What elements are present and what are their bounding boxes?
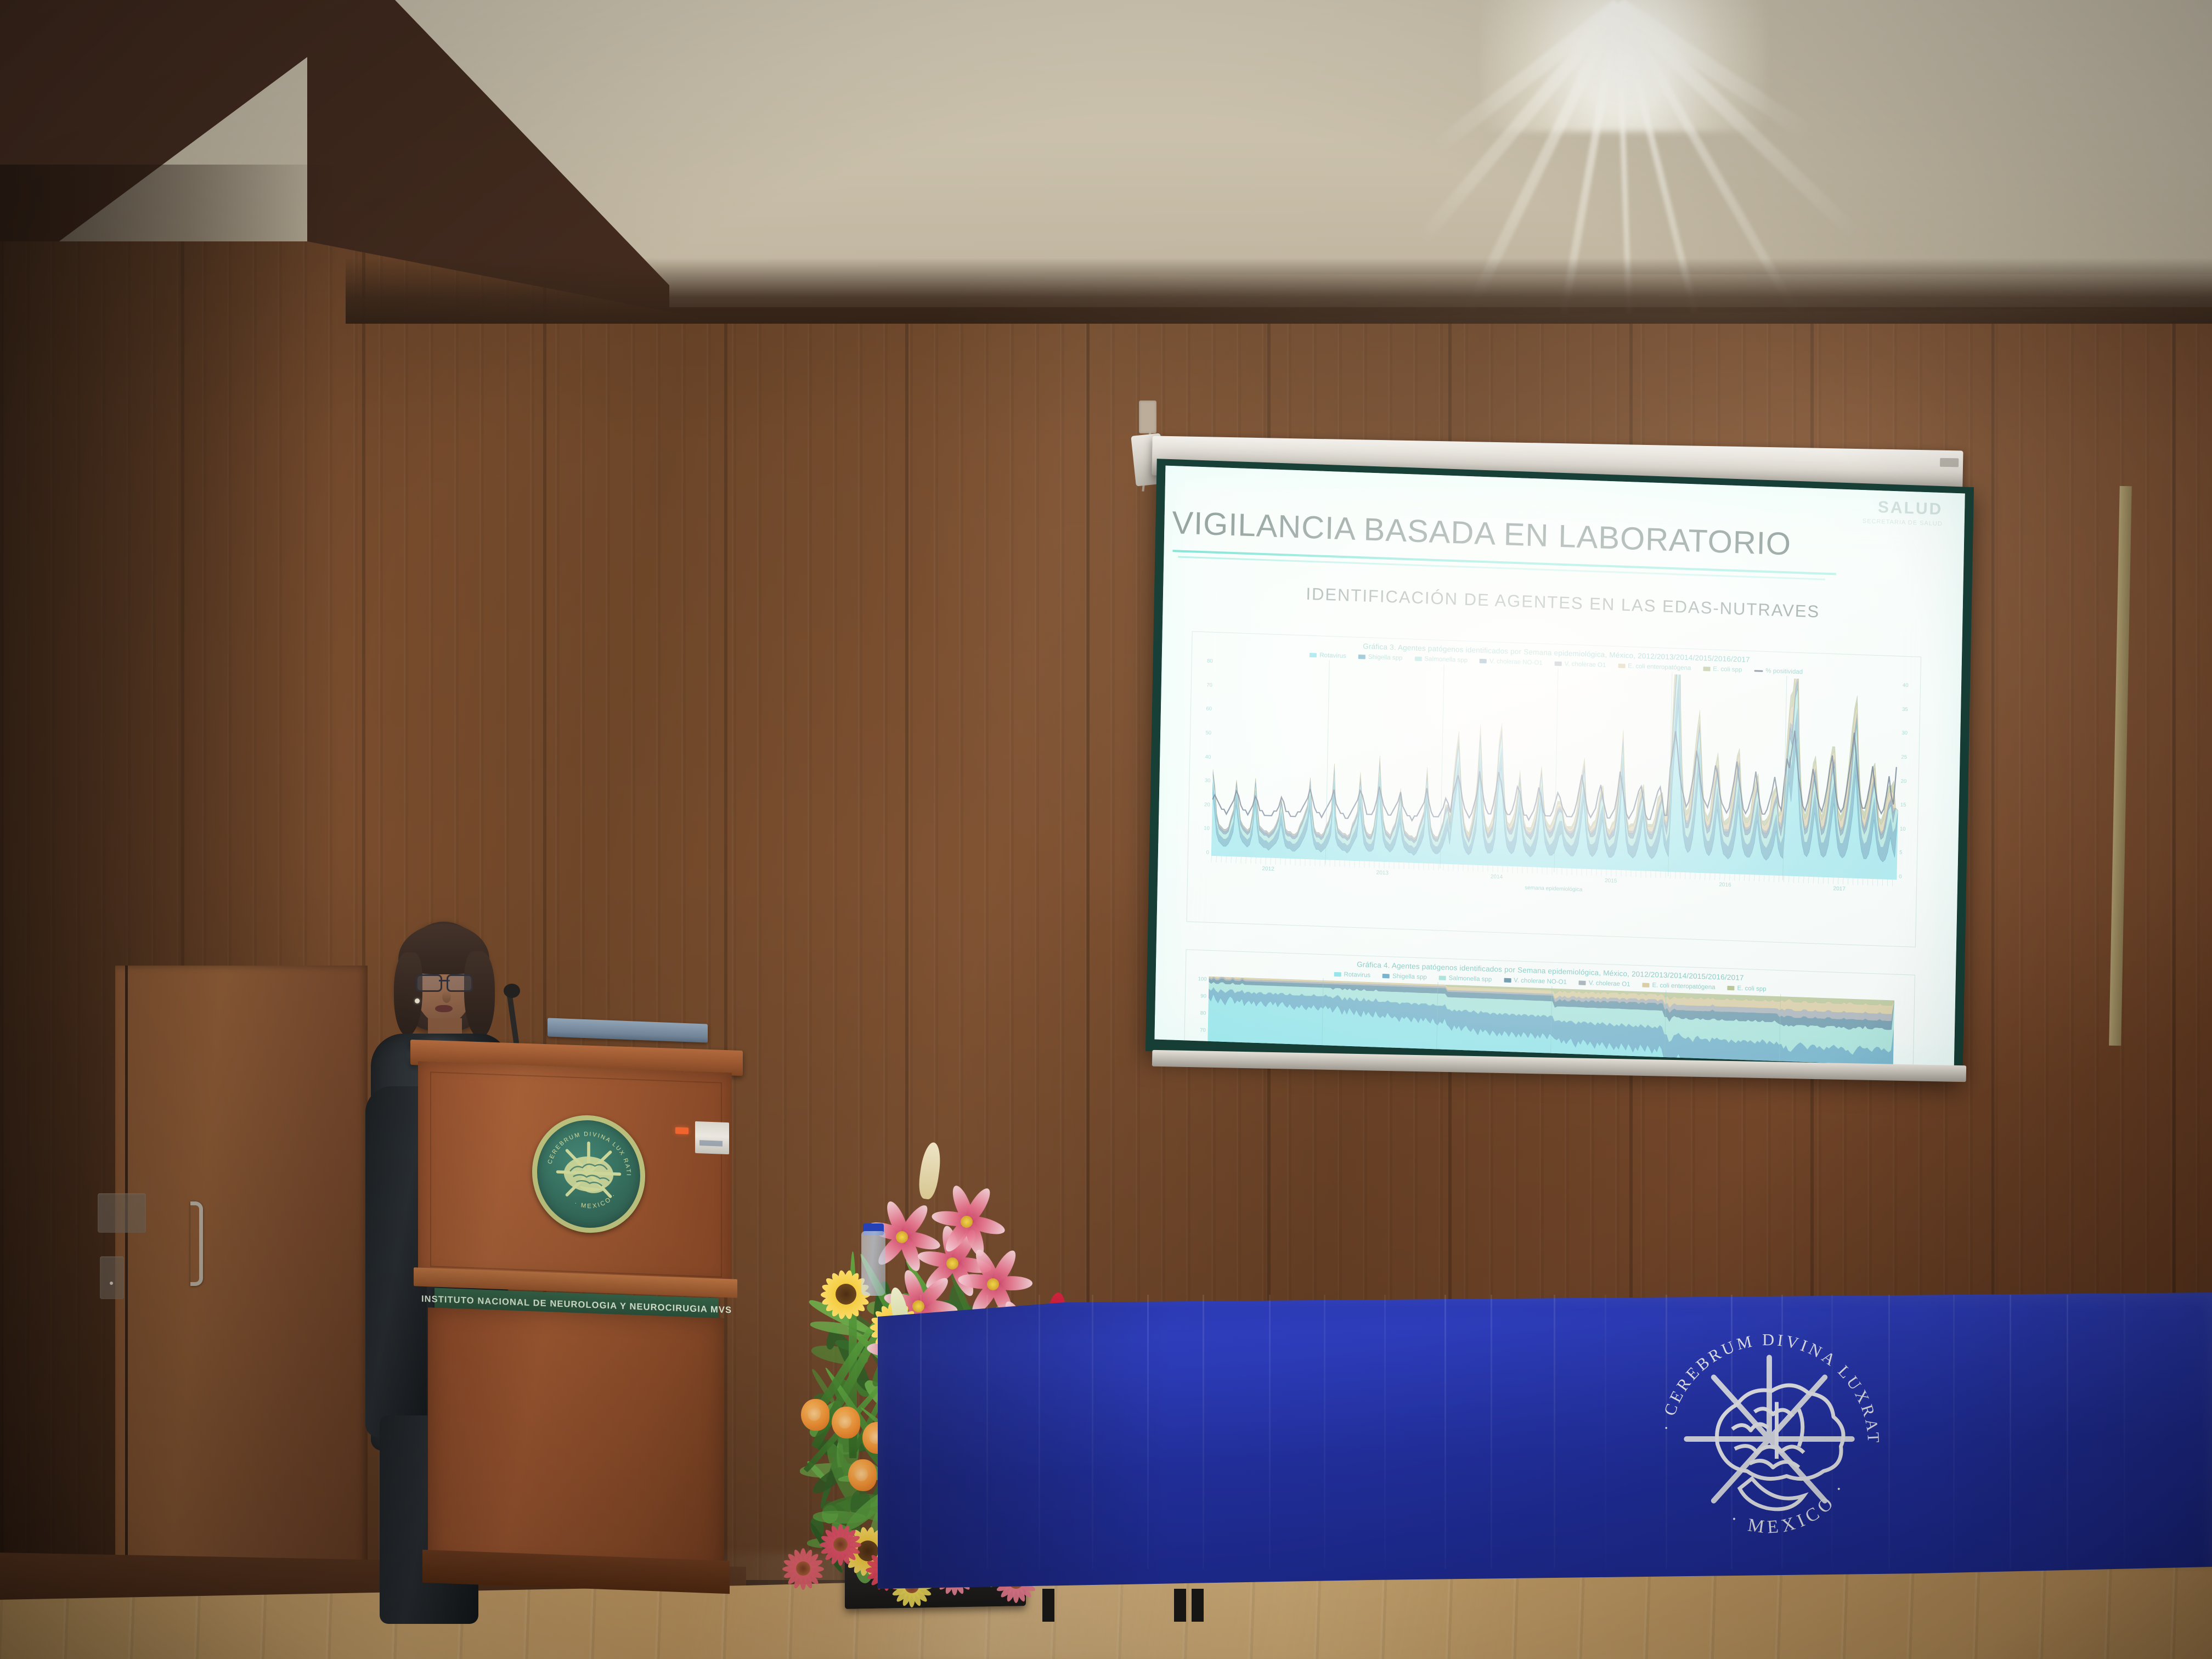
speaker-earring [415, 998, 420, 1003]
legend-swatch [1480, 659, 1487, 663]
year-label: 2017 [1833, 886, 1846, 893]
chart-lower: Gráfica 4. Agentes patógenos identificad… [1181, 949, 1915, 1067]
lily-center [946, 1257, 958, 1269]
legend-swatch [1555, 662, 1562, 666]
water-bottle[interactable] [861, 1231, 885, 1296]
tablecloth-fold [1269, 1295, 1271, 1569]
tablecloth-fold [1831, 1295, 1833, 1569]
lily-center [896, 1231, 908, 1243]
legend-swatch [1579, 980, 1586, 985]
legend-item: Shigella spp [1383, 973, 1427, 981]
speaker-hair-right [464, 951, 495, 1038]
podium-control-label[interactable] [695, 1121, 729, 1154]
chart-upper-y-axis-left: 80706050403020100 [1190, 658, 1213, 856]
tablecloth-fold [1324, 1295, 1325, 1569]
year-label: 2013 [1376, 870, 1389, 876]
tablecloth-fold [986, 1295, 988, 1569]
podium-power-indicator [675, 1127, 689, 1135]
salud-logo-text: SALUD [1863, 498, 1943, 519]
glasses-lens-left [416, 974, 442, 992]
tablecloth-fold [1203, 1295, 1204, 1569]
axis-tick-label: 20 [1901, 778, 1907, 784]
table-leg [1192, 1589, 1204, 1622]
axis-tick-label: 70 [1206, 682, 1212, 688]
sunflower-center [836, 1284, 856, 1305]
legend-item: V. cholerae NO-O1 [1480, 658, 1543, 667]
legend-label: V. cholerae O1 [1565, 661, 1606, 669]
legend-label: Salmonella spp [1424, 656, 1468, 664]
legend-item: % positividad [1754, 667, 1803, 675]
legend-label: Rotavirus [1319, 652, 1346, 660]
axis-tick-label: 40 [1903, 682, 1909, 689]
legend-item: E. coli spp [1703, 665, 1742, 673]
legend-item: Rotavirus [1334, 971, 1370, 979]
auditorium-photo: SALUD SECRETARIA DE SALUD VIGILANCIA BAS… [0, 0, 2212, 1659]
glasses-lens-right [447, 974, 473, 992]
tablecloth-fold [1953, 1295, 1955, 1569]
legend-label: % positividad [1765, 668, 1803, 675]
auditorium-door[interactable] [115, 966, 368, 1613]
legend-label: E. coli enteropatógena [1628, 663, 1691, 672]
axis-tick-label: 60 [1199, 1044, 1205, 1050]
chart-upper-plot: 80706050403020100 4035302520151050 seman… [1211, 658, 1900, 880]
axis-tick-label: 15 [1900, 802, 1906, 808]
head-table: · CEREBRUM DIVINA LUXRATIO SALUS SCIENTI… [878, 1278, 2212, 1618]
year-label: 2012 [1262, 866, 1274, 872]
lectern-podium: CEREBRUM DIVINA LUX RATIO SALUS · MEXICO… [406, 1045, 757, 1627]
axis-tick-label: 80 [1207, 658, 1213, 664]
tablecloth-fold [1147, 1295, 1149, 1569]
blue-tablecloth [878, 1293, 2212, 1589]
tablecloth-fold [1605, 1295, 1606, 1569]
legend-label: V. cholerae O1 [1589, 980, 1630, 988]
tablecloth-fold [1039, 1295, 1040, 1569]
slide-title: VIGILANCIA BASADA EN LABORATORIO [1172, 504, 1945, 568]
axis-tick-label: 70 [1200, 1027, 1206, 1033]
tablecloth-fold [1384, 1295, 1386, 1569]
axis-tick-label: 25 [1901, 754, 1907, 760]
axis-tick-label: 30 [1901, 730, 1908, 736]
axis-tick-label: 0 [1899, 874, 1902, 880]
housing-endcap [1940, 458, 1959, 467]
projection-screen: SALUD SECRETARIA DE SALUD VIGILANCIA BAS… [1145, 459, 1974, 1080]
gerbera-center [833, 1537, 848, 1551]
legend-swatch [1642, 983, 1649, 987]
banner-emblem-graphic: · CEREBRUM DIVINA LUXRATIO SALUS SCIENTI… [1646, 1316, 1893, 1562]
soffit-shadow [346, 258, 2212, 324]
legend-item: V. cholerae NO-O1 [1504, 977, 1567, 986]
tablecloth-fold [1781, 1295, 1783, 1569]
legend-label: Rotavirus [1344, 971, 1370, 979]
legend-item: E. coli enteropatógena [1618, 663, 1691, 672]
axis-tick-label: 60 [1206, 706, 1212, 712]
legend-swatch [1334, 972, 1341, 977]
legend-swatch [1310, 653, 1317, 657]
legend-label: Shigella spp [1368, 654, 1403, 662]
tablecloth-fold [2067, 1295, 2068, 1569]
presentation-slide: SALUD SECRETARIA DE SALUD VIGILANCIA BAS… [1154, 466, 1965, 1068]
speaker-nose [442, 991, 451, 1003]
rose-inner [808, 1407, 821, 1421]
legend-item: V. cholerae O1 [1579, 979, 1630, 988]
salud-logo: SALUD SECRETARIA DE SALUD [1863, 498, 1943, 527]
tablecloth-fold [2010, 1295, 2011, 1569]
axis-tick-label: 10 [1900, 826, 1906, 832]
seal-graphic: CEREBRUM DIVINA LUX RATIO SALUS · MEXICO… [537, 1119, 640, 1230]
legend-item: Shigella spp [1358, 653, 1403, 662]
speaker-mouth [435, 1005, 453, 1012]
door-handle[interactable] [190, 1201, 203, 1286]
year-label: 2015 [1605, 878, 1617, 884]
legend-item: V. cholerae O1 [1555, 661, 1606, 669]
switch-indicator-dot [110, 1282, 113, 1285]
chart-upper-y-axis-right: 4035302520151050 [1899, 682, 1921, 881]
axis-tick-label: 50 [1205, 730, 1211, 736]
svg-text:· MEXICO ·: · MEXICO · [573, 1190, 618, 1211]
axis-tick-label: 100 [1198, 976, 1207, 983]
tablecloth-fold [1666, 1295, 1667, 1569]
seal-country-text: · MEXICO · [573, 1190, 618, 1211]
legend-label: Salmonella spp [1449, 975, 1492, 983]
axis-tick-label: 0 [1206, 850, 1210, 856]
slide-subtitle: IDENTIFICACIÓN DE AGENTES EN LAS EDAS-NU… [1183, 580, 1943, 626]
door-seam [125, 966, 128, 1613]
legend-label: V. cholerae NO-O1 [1514, 977, 1567, 985]
legend-label: E. coli spp [1713, 666, 1742, 674]
axis-tick-label: 80 [1200, 1010, 1206, 1016]
rose-inner [855, 1467, 868, 1481]
tablecloth-fold [1554, 1295, 1555, 1569]
wall-socket[interactable] [1139, 400, 1156, 433]
legend-swatch [1727, 986, 1734, 990]
microphone-head[interactable] [504, 984, 520, 998]
legend-label: E. coli enteropatógena [1652, 982, 1715, 991]
legend-swatch [1414, 657, 1421, 661]
tablecloth-fold [1731, 1295, 1733, 1569]
legend-item: Salmonella spp [1414, 656, 1468, 664]
legend-label: E. coli spp [1737, 985, 1766, 992]
table-leg [1174, 1589, 1186, 1622]
tablecloth-fold [1888, 1295, 1890, 1569]
banner-emblem: · CEREBRUM DIVINA LUXRATIO SALUS SCIENTI… [1646, 1316, 1893, 1562]
projection-screen-assembly: SALUD SECRETARIA DE SALUD VIGILANCIA BAS… [1151, 439, 2117, 1092]
speaker-glasses [416, 974, 473, 989]
podium-label-bar [699, 1140, 723, 1147]
year-label: 2016 [1719, 882, 1731, 888]
axis-tick-label: 40 [1205, 754, 1211, 760]
legend-swatch [1703, 667, 1710, 671]
legend-swatch [1439, 975, 1446, 980]
axis-tick-label: 20 [1204, 802, 1210, 808]
gerbera-center [796, 1561, 810, 1576]
table-leg [1042, 1589, 1054, 1622]
legend-item: Salmonella spp [1439, 974, 1492, 983]
tablecloth-fold [1491, 1295, 1492, 1569]
axis-tick-label: 90 [1200, 993, 1206, 999]
chart-upper: Gráfica 3. Agentes patógenos identificad… [1187, 631, 1922, 947]
legend-item: Rotavirus [1310, 652, 1346, 659]
tablecloth-fold [920, 1295, 922, 1569]
wall-panel-plate[interactable] [98, 1193, 146, 1233]
legend-swatch [1618, 664, 1625, 668]
legend-swatch [1754, 670, 1763, 672]
tablecloth-fold [2124, 1295, 2125, 1569]
legend-item: E. coli enteropatógena [1642, 981, 1715, 991]
rose-inner [838, 1414, 851, 1429]
legend-swatch [1358, 654, 1365, 659]
legend-item: E. coli spp [1727, 985, 1766, 992]
axis-tick-label: 5 [1899, 850, 1903, 856]
axis-tick-label: 35 [1902, 706, 1908, 712]
legend-swatch [1504, 978, 1511, 983]
legend-label: V. cholerae NO-O1 [1489, 658, 1543, 666]
tablecloth-fold [1092, 1295, 1093, 1569]
year-label: 2014 [1491, 874, 1503, 881]
tablecloth-fold [1444, 1295, 1446, 1569]
axis-tick-label: 30 [1205, 778, 1211, 784]
legend-label: Shigella spp [1392, 973, 1427, 981]
axis-tick-label: 10 [1204, 826, 1210, 832]
light-switch-plate[interactable] [100, 1256, 124, 1299]
legend-swatch [1383, 974, 1390, 978]
salud-logo-subtext: SECRETARIA DE SALUD [1863, 518, 1943, 527]
podium-lower-body [428, 1307, 724, 1576]
chart-upper-x-label: semana epidemiológica [1525, 885, 1582, 893]
lily-center [961, 1216, 973, 1228]
